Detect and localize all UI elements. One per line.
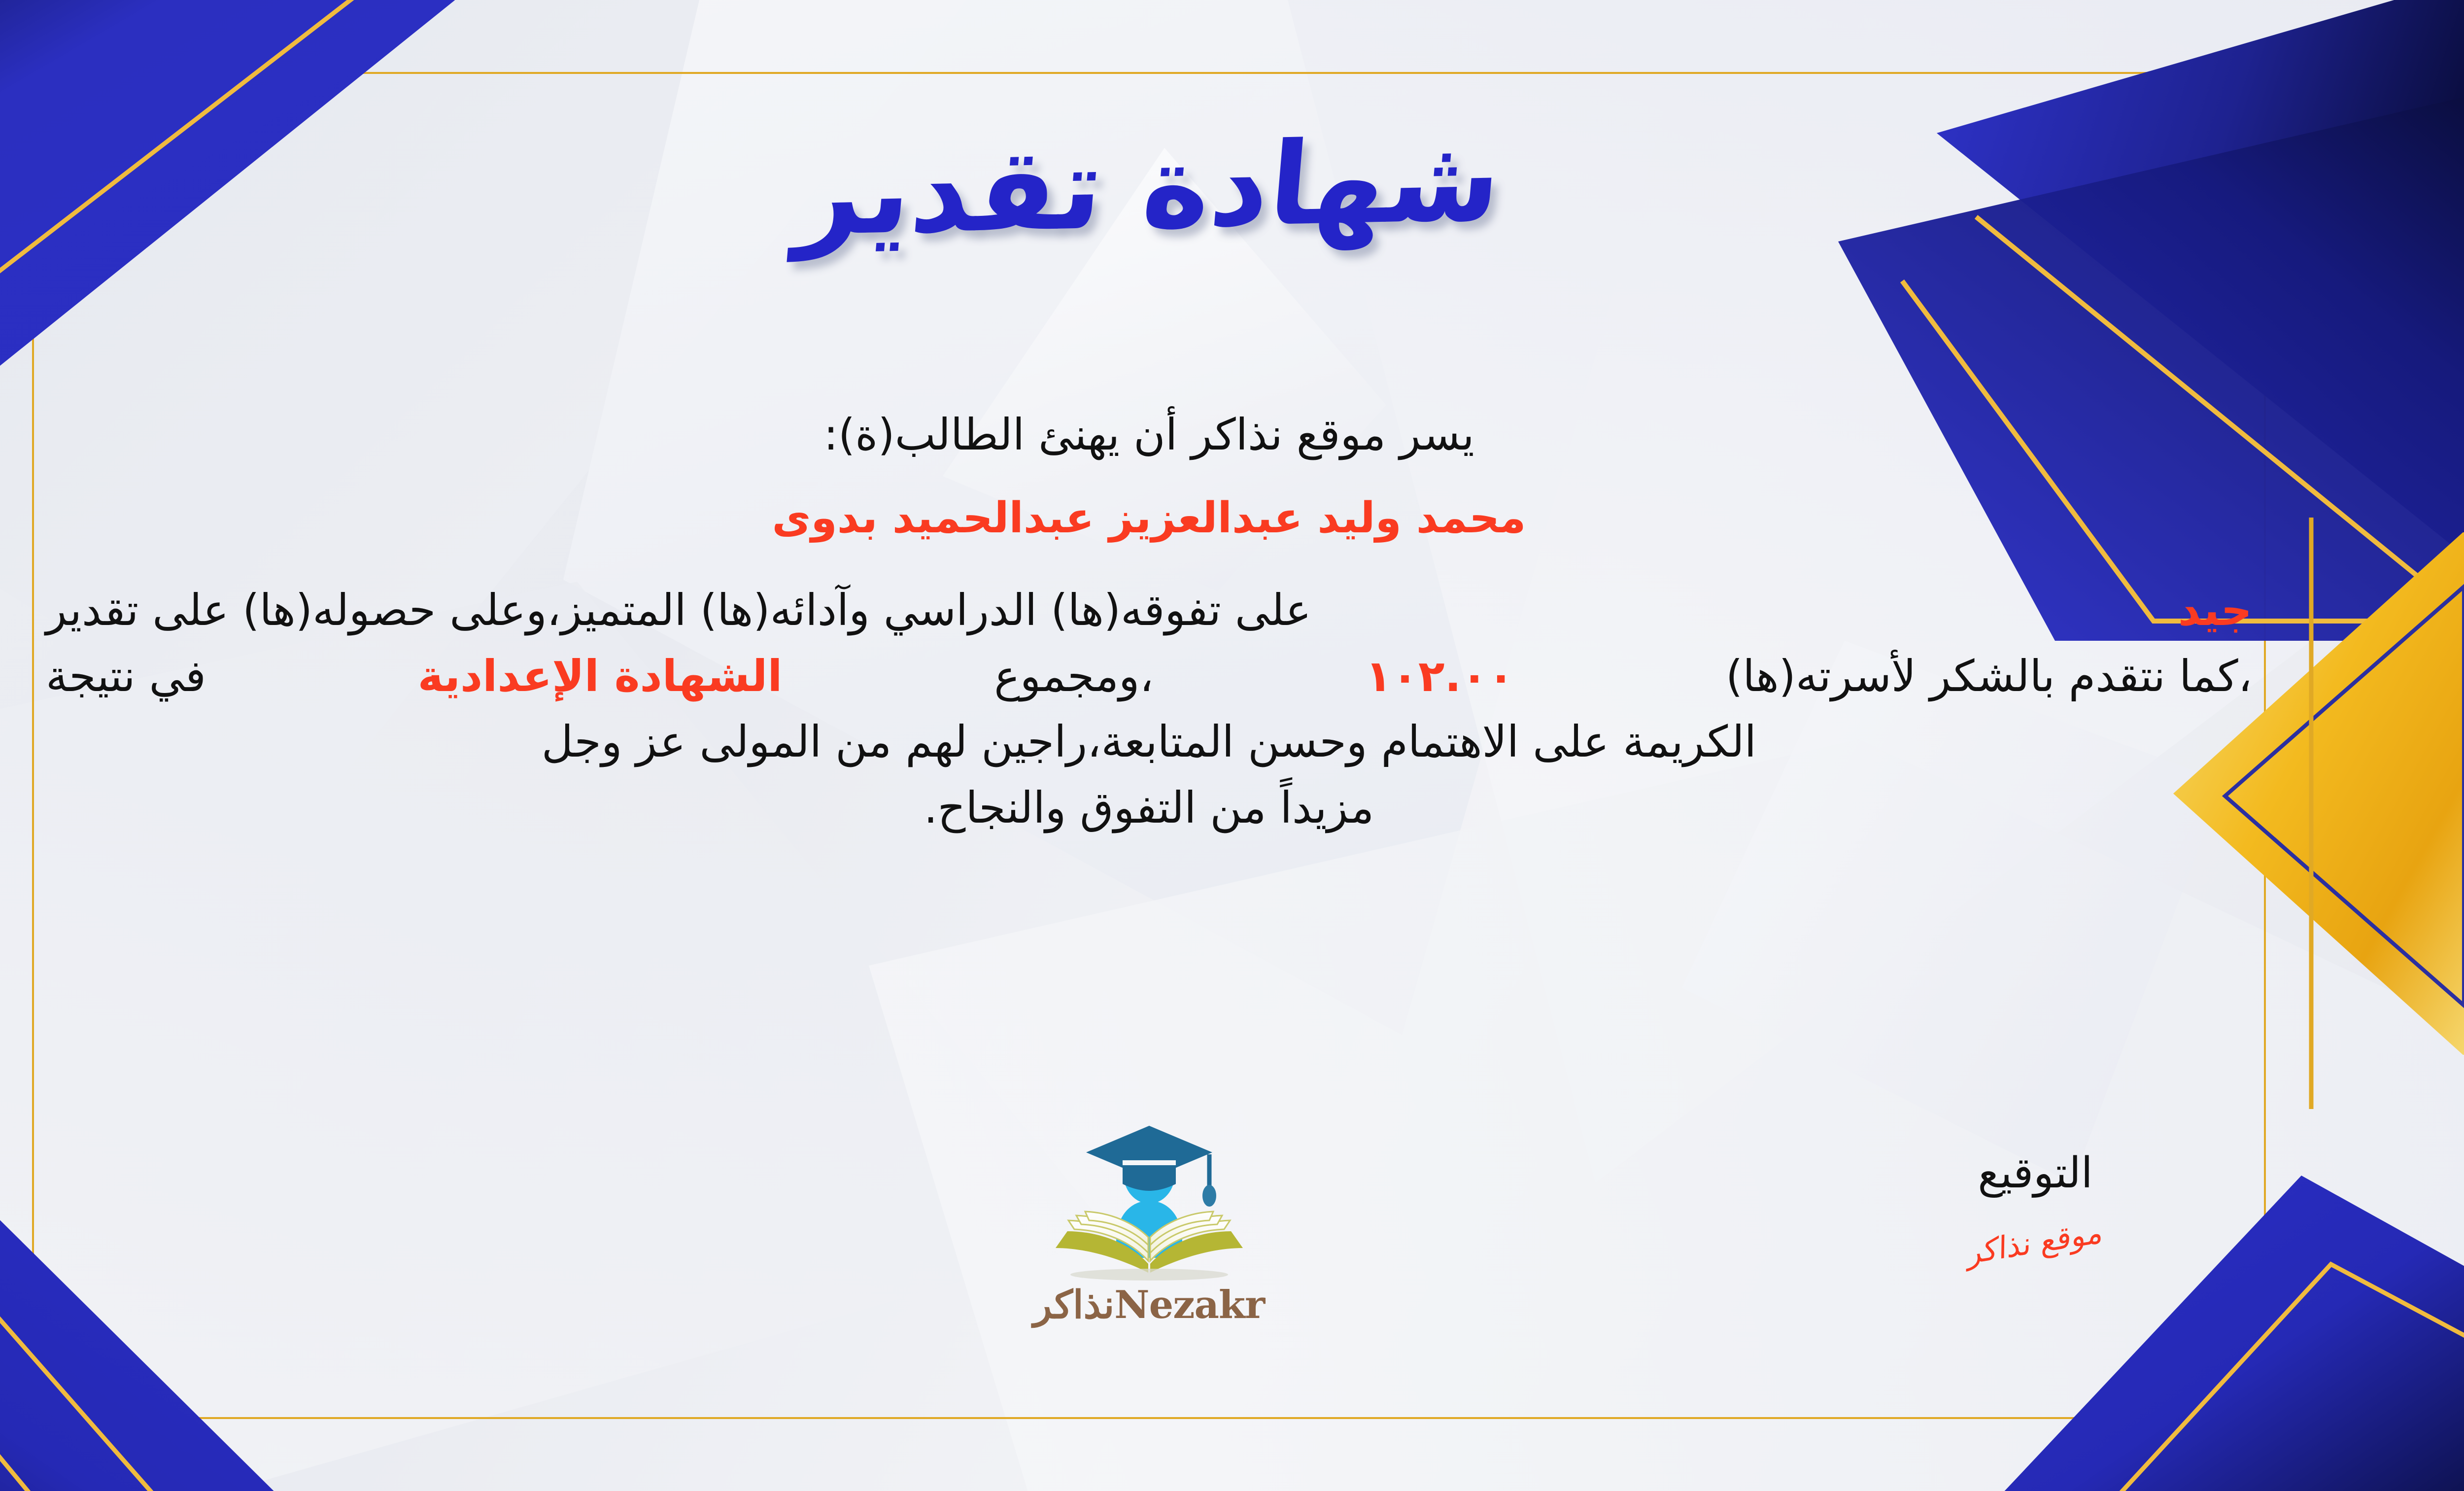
grade-value: جيد bbox=[2178, 577, 2252, 643]
body-line-4-text: مزيداً من التفوق والنجاح. bbox=[924, 775, 1374, 841]
certificate-title: شهادة تقدير bbox=[792, 123, 1506, 252]
body-line-2-mid-text: ،ومجموع bbox=[994, 643, 1154, 709]
greeting-text: يسر موقع نذاكر أن يهنئ الطالب(ة): bbox=[46, 404, 2252, 466]
logo-brand-latin: Nezakr bbox=[1114, 1283, 1265, 1327]
total-score-value: ١٠٢.٠٠ bbox=[1365, 643, 1514, 709]
certificate-page: شهادة تقدير يسر موقع نذاكر أن يهنئ الطال… bbox=[0, 0, 2464, 1491]
signature-label: التوقيع bbox=[1907, 1148, 2163, 1198]
body-line-2-left-text: ،كما نتقدم بالشكر لأسرته(ها) bbox=[1726, 643, 2252, 709]
body-line-4: مزيداً من التفوق والنجاح. bbox=[46, 775, 2252, 841]
body-line-1-text: على تفوقه(ها) الدراسي وآدائه(ها) المتميز… bbox=[46, 577, 1311, 643]
exam-name-value: الشهادة الإعدادية bbox=[418, 643, 783, 709]
logo-brand-text: Nezakrنذاكر bbox=[1011, 1283, 1287, 1327]
body-paragraph: جيد على تفوقه(ها) الدراسي وآدائه(ها) الم… bbox=[46, 577, 2252, 841]
graduation-book-logo-icon bbox=[1036, 1119, 1263, 1282]
body-line-2-right-text: في نتيجة bbox=[46, 643, 206, 709]
body-line-2: ،كما نتقدم بالشكر لأسرته(ها) ١٠٢.٠٠ ،ومج… bbox=[46, 643, 2252, 709]
student-name: محمد وليد عبدالعزيز عبدالحميد بدوى bbox=[46, 493, 2252, 543]
certificate-title-wrap: شهادة تقدير bbox=[0, 74, 2464, 301]
body-line-3: الكريمة على الاهتمام وحسن المتابعة،راجين… bbox=[46, 709, 2252, 775]
site-logo: Nezakrنذاكر bbox=[1011, 1119, 1287, 1327]
signature-block: التوقيع موقع نذاكر bbox=[1907, 1148, 2163, 1260]
body-line-3-text: الكريمة على الاهتمام وحسن المتابعة،راجين… bbox=[542, 709, 1756, 775]
certificate-body: يسر موقع نذاكر أن يهنئ الطالب(ة): محمد و… bbox=[46, 404, 2252, 841]
body-line-1: جيد على تفوقه(ها) الدراسي وآدائه(ها) الم… bbox=[46, 577, 2252, 643]
logo-brand-arabic: نذاكر bbox=[1033, 1283, 1115, 1327]
